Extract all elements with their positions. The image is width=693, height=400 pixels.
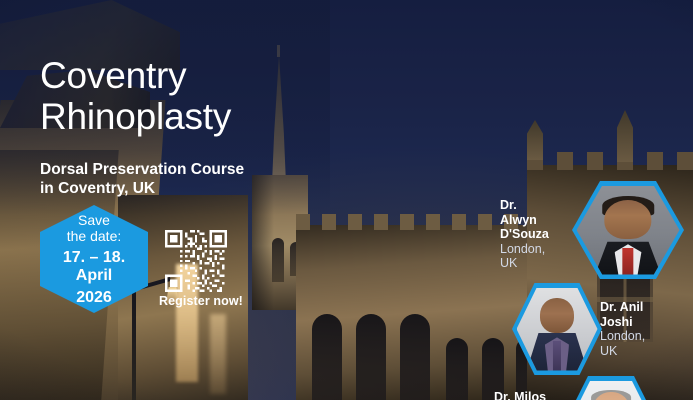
speaker-2-country: UK: [600, 344, 645, 359]
subtitle-line-2: in Coventry, UK: [40, 179, 370, 198]
save-the-date-line-1: Save: [78, 212, 110, 228]
speaker-3-name-line-1: Dr. Milos: [494, 390, 556, 400]
headline-block: Coventry Rhinoplasty Dorsal Preservation…: [40, 55, 370, 198]
page-title-line-2: Rhinoplasty: [40, 96, 370, 137]
speaker-1-name-line-1: Dr. Alwyn: [500, 198, 549, 227]
portrait-tie: [622, 248, 633, 275]
portrait-head: [604, 200, 651, 239]
event-date: 17. – 18.: [63, 249, 125, 267]
portrait-head: [540, 298, 574, 333]
speaker-1-name-line-2: D'Souza: [500, 227, 549, 242]
speaker-2-portrait: [517, 288, 598, 371]
speaker-1-city: London,: [500, 242, 549, 257]
speaker-1-portrait: [577, 186, 680, 275]
event-year: 2026: [76, 289, 112, 307]
speaker-2-city: London,: [600, 329, 645, 344]
speaker-3-info: Dr. Milos Kovacevic Hamburg, Germany: [494, 390, 556, 400]
event-poster: Coventry Rhinoplasty Dorsal Preservation…: [0, 0, 693, 400]
register-now-label[interactable]: Register now!: [159, 294, 243, 308]
qr-code[interactable]: [165, 230, 227, 292]
speaker-2-name-line-2: Joshi: [600, 315, 645, 330]
portrait-tie: [553, 341, 561, 371]
subtitle-line-1: Dorsal Preservation Course: [40, 160, 370, 179]
page-title-line-1: Coventry: [40, 55, 370, 96]
speaker-1-country: UK: [500, 256, 549, 271]
speaker-2-name-line-1: Dr. Anil: [600, 300, 645, 315]
qr-code-icon[interactable]: [165, 230, 227, 292]
event-month: April: [76, 267, 112, 285]
speaker-2-info: Dr. Anil Joshi London, UK: [600, 300, 645, 358]
save-the-date-line-2: the date:: [67, 228, 122, 244]
speaker-1-info: Dr. Alwyn D'Souza London, UK: [500, 198, 549, 271]
